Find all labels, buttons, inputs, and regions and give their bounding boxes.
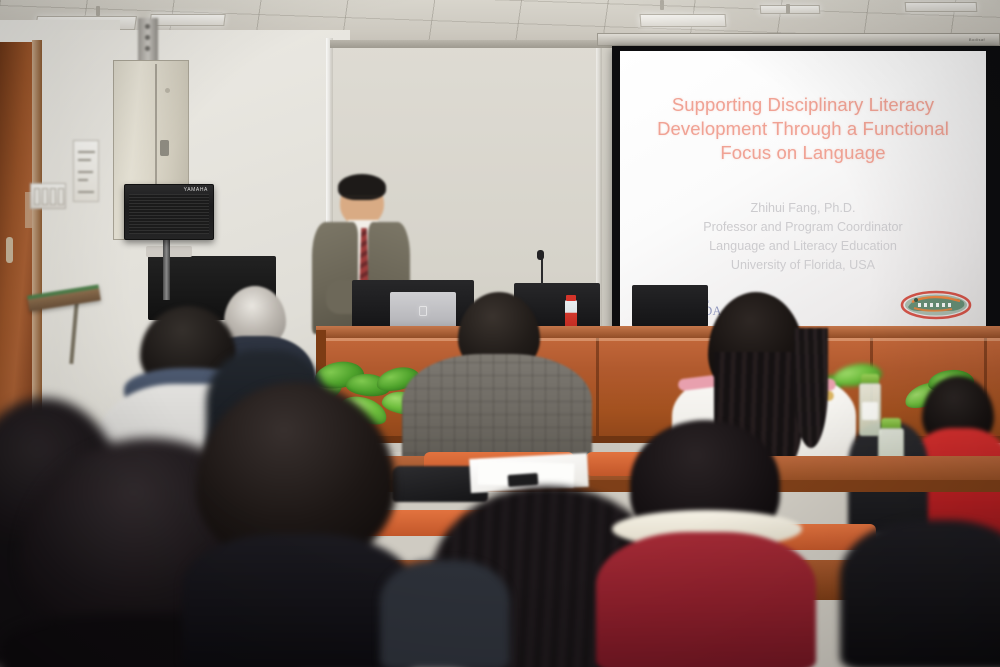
- ceiling-light-2: [149, 14, 225, 26]
- presenter-glasses: [344, 196, 380, 203]
- cabinet-lock[interactable]: [160, 140, 169, 156]
- light-switch-panel[interactable]: [30, 183, 66, 209]
- microphone-icon: [537, 250, 544, 260]
- door-frame: [32, 40, 42, 444]
- ceiling-light-3: [640, 14, 727, 27]
- light-switch-1[interactable]: [34, 188, 40, 205]
- lecture-room-photo: YAMAHA Bodisaf Supporting Disciplinary L…: [0, 0, 1000, 667]
- light-switch-3[interactable]: [50, 188, 56, 205]
- speaker-stand-pole: [163, 240, 170, 300]
- hair-side-strand: [794, 328, 828, 448]
- sprinkler-head-3: [786, 4, 790, 14]
- bottle-label: [862, 402, 878, 420]
- torso: [380, 560, 510, 667]
- cabinet-latch-dot: [165, 88, 170, 93]
- light-switch-4[interactable]: [58, 188, 64, 205]
- slide-presenter-role: Professor and Program Coordinator: [620, 218, 986, 237]
- sprinkler-head-1: [96, 6, 100, 16]
- slide-title-line-2: Development Through a Functional: [620, 117, 986, 141]
- slide-subtitle: Zhihui Fang, Ph.D. Professor and Program…: [620, 199, 986, 275]
- torso: [840, 520, 1000, 667]
- slide-presenter-department: Language and Literacy Education: [620, 237, 986, 256]
- yamaha-speaker: YAMAHA: [124, 184, 214, 240]
- audience-checkered-blazer-man: [396, 292, 596, 478]
- door-handle[interactable]: [6, 237, 13, 263]
- slide-title: Supporting Disciplinary Literacy Develop…: [620, 93, 986, 165]
- podium-panel-seam-1: [596, 338, 599, 442]
- mobile-phone-on-desk: [508, 473, 539, 487]
- foreground-head-center: [196, 382, 396, 667]
- foreground-left-shoulder: [380, 560, 510, 667]
- slide-title-line-1: Supporting Disciplinary Literacy: [620, 93, 986, 117]
- wall-notice: [73, 140, 99, 202]
- torso: [596, 532, 816, 667]
- ceiling-light-4: [760, 5, 821, 14]
- ceiling-support-strut: [138, 18, 158, 63]
- slide-presenter-institution: University of Florida, USA: [620, 256, 986, 275]
- speaker-brand-label: YAMAHA: [184, 187, 208, 193]
- slide-title-line-3: Focus on Language: [620, 141, 986, 165]
- slide-presenter-name: Zhihui Fang, Ph.D.: [620, 199, 986, 218]
- foreground-right-dark-figure: [840, 520, 1000, 667]
- projection-screen-housing: Bodisaf: [597, 33, 1000, 46]
- ceiling-light-5: [905, 2, 978, 12]
- foreground-maroon-fur-collar-woman: [596, 446, 816, 667]
- light-switch-2[interactable]: [42, 188, 48, 205]
- gator-logo-icon: [900, 289, 972, 321]
- speaker-grille: [129, 194, 209, 234]
- wooden-door[interactable]: [0, 42, 36, 442]
- sprinkler-head-2: [660, 0, 664, 10]
- screen-brand-label: Bodisaf: [969, 37, 985, 42]
